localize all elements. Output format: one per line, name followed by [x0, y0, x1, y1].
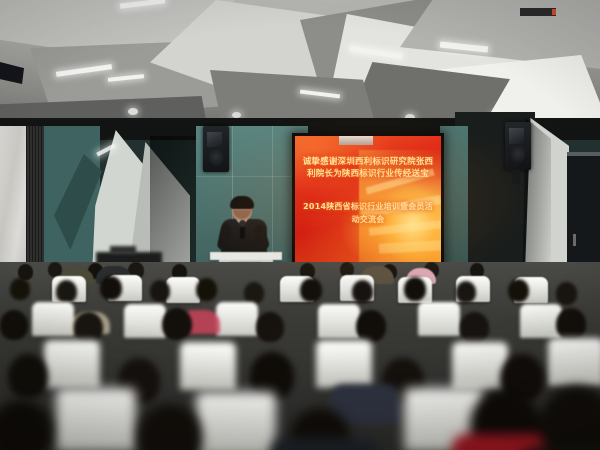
screen-headline-line1: 诚挚感谢深圳西利标识研究院张西 [295, 158, 441, 168]
presentation-screen[interactable]: 诚挚感谢深圳西利标识研究院张西 利院长为陕西标识行业传经送宝 2014陕西省标识… [295, 136, 441, 262]
seated-audience [0, 262, 600, 450]
screen-headline-line2: 利院长为陕西标识行业传经送宝 [295, 170, 441, 180]
lectern-top [210, 252, 282, 260]
screen-subhead-line2: 动交流会 [295, 215, 441, 224]
center-wall-right [440, 126, 468, 274]
speaker-mount-bracket [512, 170, 520, 184]
handheld-microphone [240, 224, 245, 239]
grille-column [26, 126, 44, 276]
presenter-hair [230, 196, 254, 209]
door-handle [573, 234, 576, 246]
screen-artifact [339, 136, 373, 145]
screen-subhead-line1: 2014陕西省标识行业培训暨会员活 [295, 202, 441, 211]
auditorium-photo: 诚挚感谢深圳西利标识研究院张西 利院长为陕西标识行业传经送宝 2014陕西省标识… [0, 0, 600, 450]
speaker-cone [209, 147, 223, 165]
emergency-light-led [552, 9, 556, 15]
wall-speaker-left [203, 126, 229, 172]
door-frame-highlight [567, 152, 600, 156]
presentation-screen-frame[interactable]: 诚挚感谢深圳西利标识研究院张西 利院长为陕西标识行业传经送宝 2014陕西省标识… [292, 133, 444, 265]
marble-column [0, 126, 26, 276]
stage-equipment [110, 246, 136, 254]
wall-speaker-right [505, 122, 531, 170]
speaker-cone [511, 144, 525, 163]
ceiling-downlight [128, 108, 138, 115]
emergency-light [520, 8, 556, 16]
